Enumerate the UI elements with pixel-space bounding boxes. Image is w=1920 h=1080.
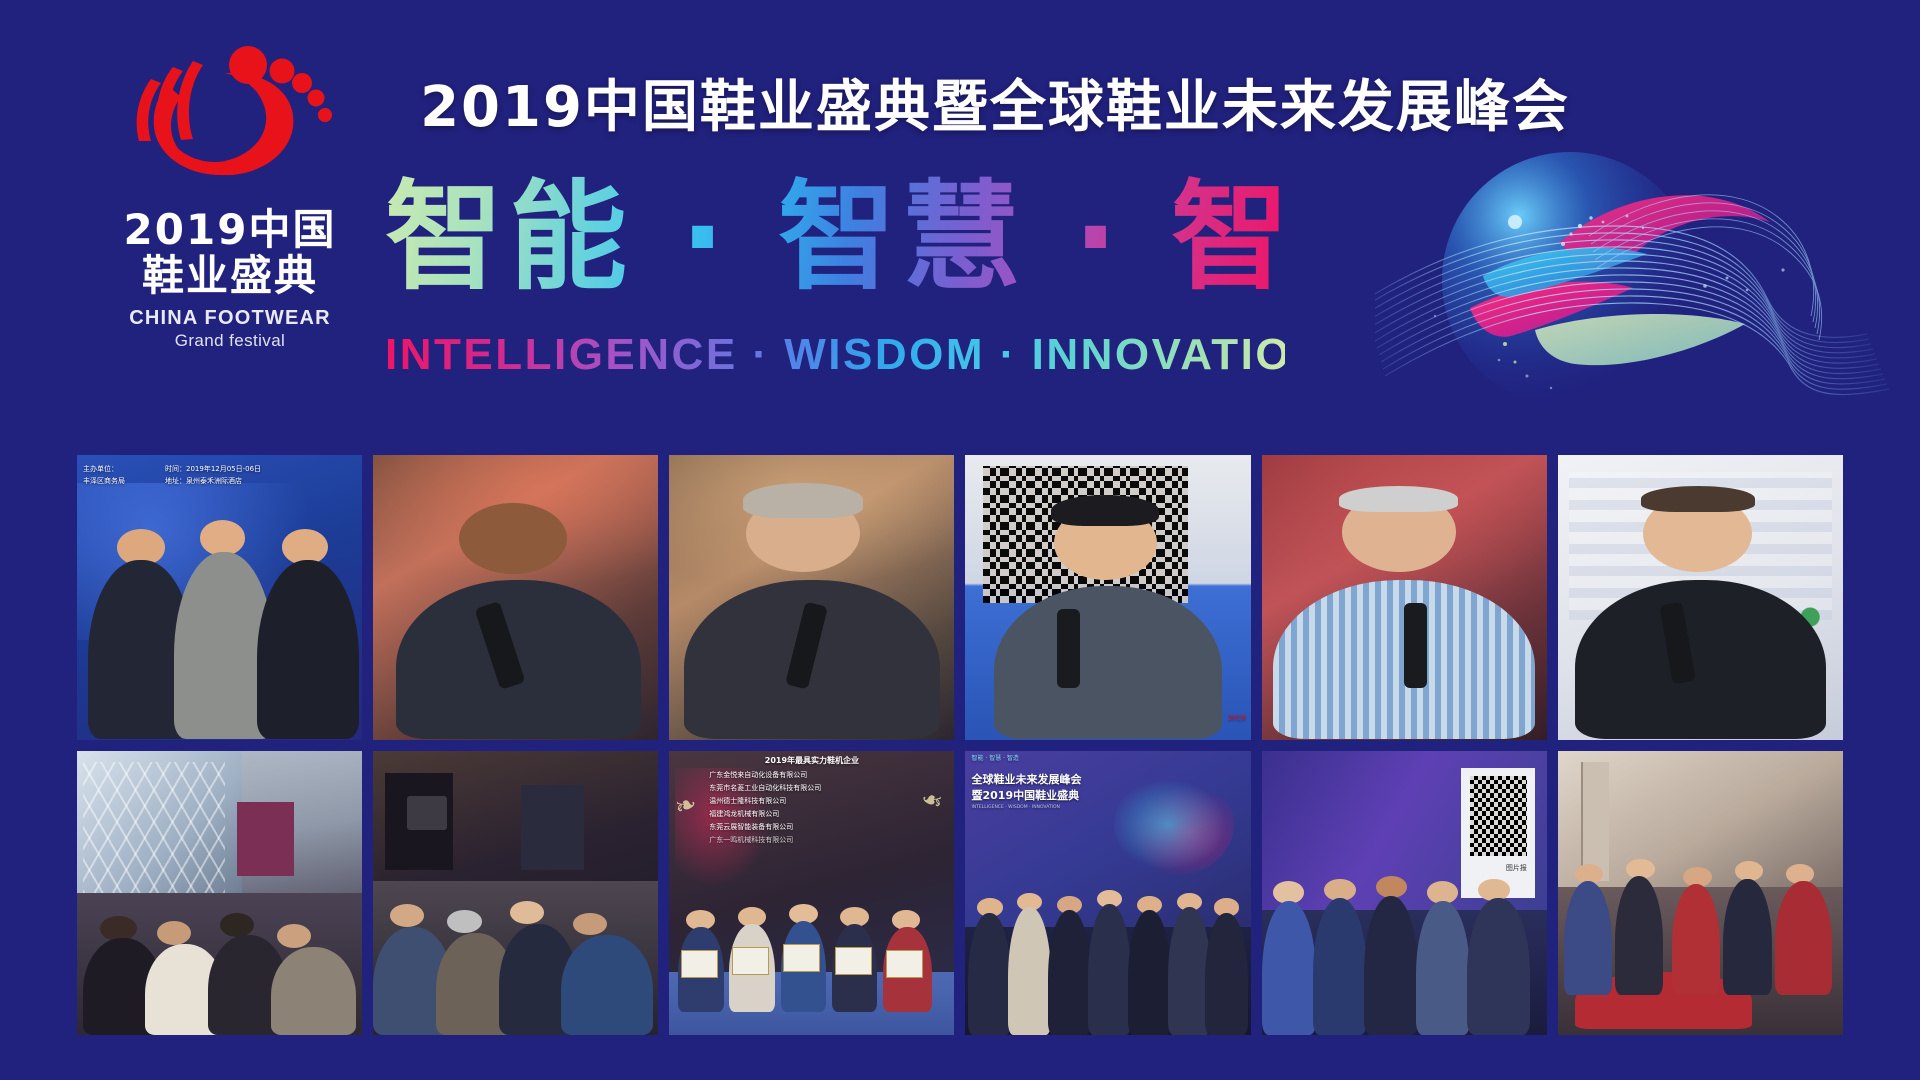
- photo-overlay-text: 东莞市名菱工业自动化科技有限公司: [709, 784, 821, 793]
- photo-r2c2[interactable]: [373, 751, 658, 1036]
- logo-chinese-name: 2019中国 鞋业盛典: [124, 207, 337, 299]
- photo-overlay-text: INTELLIGENCE · WISDOM · INNOVATION: [971, 805, 1059, 811]
- photo-r1c1[interactable]: 主办单位： 时间：2019年12月05日-06日 丰泽区商务局 地址：泉州泰禾洲…: [77, 455, 362, 740]
- photo-r1c3[interactable]: [669, 455, 954, 740]
- event-logo: 2019中国 鞋业盛典 CHINA FOOTWEAR Grand festiva…: [95, 45, 365, 375]
- photo-r1c6[interactable]: [1558, 455, 1843, 740]
- photo-r2c3[interactable]: ❧ ❧ 2019年最具实力鞋机企业 广东金悦来自动化设备有限公司 东莞市名菱工业…: [669, 751, 954, 1036]
- photo-r2c5[interactable]: 图片报: [1262, 751, 1547, 1036]
- slogan-chinese: 智能 · 智慧 · 智造: [385, 168, 1285, 307]
- photo-overlay-text: 2019: [1228, 714, 1246, 723]
- logo-english-sub: Grand festival: [175, 331, 285, 351]
- photo-overlay-text: 温州德士隆科技有限公司: [709, 797, 786, 806]
- photo-overlay-text: 地址：泉州泰禾洲际酒店: [165, 477, 242, 486]
- footprint-swoosh-logo-icon: [125, 45, 335, 195]
- photo-r1c2[interactable]: [373, 455, 658, 740]
- event-photo-grid: 主办单位： 时间：2019年12月05日-06日 丰泽区商务局 地址：泉州泰禾洲…: [77, 455, 1843, 1035]
- photo-overlay-text: 广东金悦来自动化设备有限公司: [709, 771, 807, 780]
- photo-overlay-text: 丰泽区商务局: [83, 477, 125, 486]
- photo-overlay-text: 图片报: [1506, 864, 1527, 873]
- logo-english-main: CHINA FOOTWEAR: [129, 307, 331, 330]
- photo-overlay-text: 暨2019中国鞋业盛典: [971, 789, 1079, 804]
- photo-overlay-text: 东莞云展智能装备有限公司: [709, 823, 793, 832]
- globe-wave-particles-icon: [1375, 130, 1920, 420]
- photo-r1c5[interactable]: [1262, 455, 1547, 740]
- photo-r2c1[interactable]: [77, 751, 362, 1036]
- photo-r2c4[interactable]: 智能 · 智慧 · 智造 全球鞋业未来发展峰会 暨2019中国鞋业盛典 INTE…: [965, 751, 1250, 1036]
- photo-overlay-text: 广东一鸣机械科技有限公司: [709, 836, 793, 845]
- photo-overlay-text: 福建鸿龙机械有限公司: [709, 810, 779, 819]
- photo-r2c6[interactable]: [1558, 751, 1843, 1036]
- slogan-english: INTELLIGENCE · WISDOM · INNOVATION: [385, 330, 1285, 380]
- poster-root: 2019中国 鞋业盛典 CHINA FOOTWEAR Grand festiva…: [0, 0, 1920, 1080]
- photo-overlay-text: 主办单位：: [83, 465, 118, 474]
- photo-r1c4[interactable]: 2019: [965, 455, 1250, 740]
- photo-overlay-text: 全球鞋业未来发展峰会: [971, 773, 1081, 788]
- logo-chinese-line-2: 鞋业盛典: [124, 253, 337, 299]
- poster-header: 2019中国 鞋业盛典 CHINA FOOTWEAR Grand festiva…: [0, 0, 1920, 430]
- photo-overlay-text: 智能 · 智慧 · 智造: [971, 755, 1018, 763]
- logo-chinese-line-1: 2019中国: [124, 207, 337, 253]
- photo-overlay-text: 时间：2019年12月05日-06日: [165, 465, 261, 474]
- photo-overlay-title: 2019年最具实力鞋机企业: [765, 756, 859, 767]
